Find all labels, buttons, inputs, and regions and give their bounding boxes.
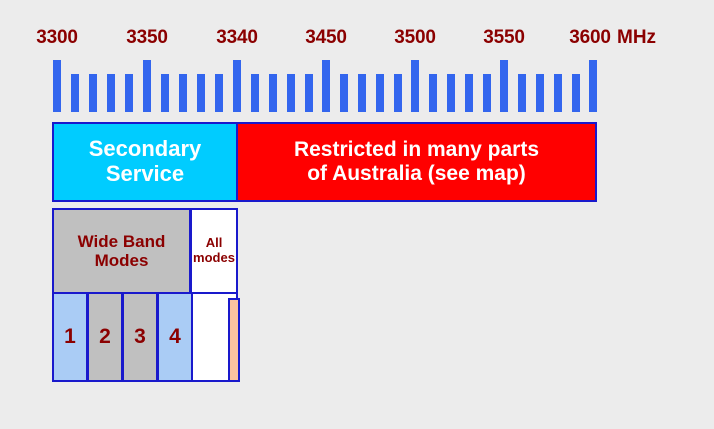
band-segment-3-label: 3	[134, 325, 146, 349]
band-wideband-line2: Modes	[95, 251, 149, 270]
axis-tick-minor-26	[518, 74, 526, 112]
axis-tick-minor-16	[340, 74, 348, 112]
axis-tick-minor-23	[465, 74, 473, 112]
axis-tick-minor-24	[483, 74, 491, 112]
band-segment-3[interactable]: 3	[122, 292, 158, 382]
band-segment-marker[interactable]	[228, 298, 240, 382]
axis-unit-label: MHz	[617, 28, 656, 47]
axis-tick-minor-3	[107, 74, 115, 112]
axis-tick-minor-27	[536, 74, 544, 112]
axis-tick-minor-6	[161, 74, 169, 112]
axis-tick-minor-22	[447, 74, 455, 112]
band-segment-2[interactable]: 2	[87, 292, 123, 382]
axis-tick-minor-13	[287, 74, 295, 112]
axis-tick-3350	[143, 60, 151, 112]
band-secondary-service-line2: Service	[106, 161, 184, 186]
axis-tick-minor-12	[269, 74, 277, 112]
axis-tick-minor-29	[572, 74, 580, 112]
axis-label-3350: 3350	[126, 28, 167, 47]
band-wideband-line1: Wide Band	[78, 232, 166, 251]
axis-tick-minor-18	[376, 74, 384, 112]
axis-tick-minor-14	[305, 74, 313, 112]
band-all-modes-label: All modes	[193, 236, 235, 265]
band-restricted-line2: of Australia (see map)	[307, 162, 526, 185]
band-restricted-australia-label: Restricted in many parts of Australia (s…	[294, 138, 539, 185]
band-wide-band-modes[interactable]: Wide Band Modes	[52, 208, 191, 294]
axis-tick-3600	[589, 60, 597, 112]
band-allmodes-line1: All	[206, 235, 223, 250]
axis-label-3500: 3500	[394, 28, 435, 47]
axis-tick-minor-21	[429, 74, 437, 112]
axis-tick-minor-8	[197, 74, 205, 112]
axis-label-3450: 3450	[305, 28, 346, 47]
axis-tick-minor-28	[554, 74, 562, 112]
axis-tick-minor-2	[89, 74, 97, 112]
axis-label-3600: 3600	[569, 28, 610, 47]
band-secondary-service[interactable]: Secondary Service	[52, 122, 238, 202]
axis-tick-3340	[233, 60, 241, 112]
axis-tick-minor-19	[394, 74, 402, 112]
band-plan-chart: 3300 3350 3340 3450 3500 3550 3600 MHz S…	[0, 0, 714, 429]
axis-tick-3550	[500, 60, 508, 112]
band-wide-band-modes-label: Wide Band Modes	[78, 232, 166, 270]
axis-tick-minor-7	[179, 74, 187, 112]
band-segment-4-label: 4	[169, 325, 181, 349]
axis-tick-minor-17	[358, 74, 366, 112]
band-secondary-service-line1: Secondary	[89, 136, 202, 161]
band-secondary-service-label: Secondary Service	[89, 137, 202, 186]
band-segment-1[interactable]: 1	[52, 292, 88, 382]
band-segment-4[interactable]: 4	[157, 292, 193, 382]
axis-tick-minor-9	[215, 74, 223, 112]
band-restricted-line1: Restricted in many parts	[294, 138, 539, 161]
axis-label-3300: 3300	[36, 28, 77, 47]
axis-tick-minor-11	[251, 74, 259, 112]
axis-tick-minor-4	[125, 74, 133, 112]
band-all-modes[interactable]: All modes	[190, 208, 238, 294]
band-segment-1-label: 1	[64, 325, 76, 349]
axis-label-3340: 3340	[216, 28, 257, 47]
band-segment-2-label: 2	[99, 325, 111, 349]
axis-tick-minor-1	[71, 74, 79, 112]
band-allmodes-line2: modes	[193, 250, 235, 265]
axis-tick-3500	[411, 60, 419, 112]
band-restricted-australia[interactable]: Restricted in many parts of Australia (s…	[236, 122, 597, 202]
axis-label-3550: 3550	[483, 28, 524, 47]
axis-tick-3450	[322, 60, 330, 112]
axis-tick-3300	[53, 60, 61, 112]
